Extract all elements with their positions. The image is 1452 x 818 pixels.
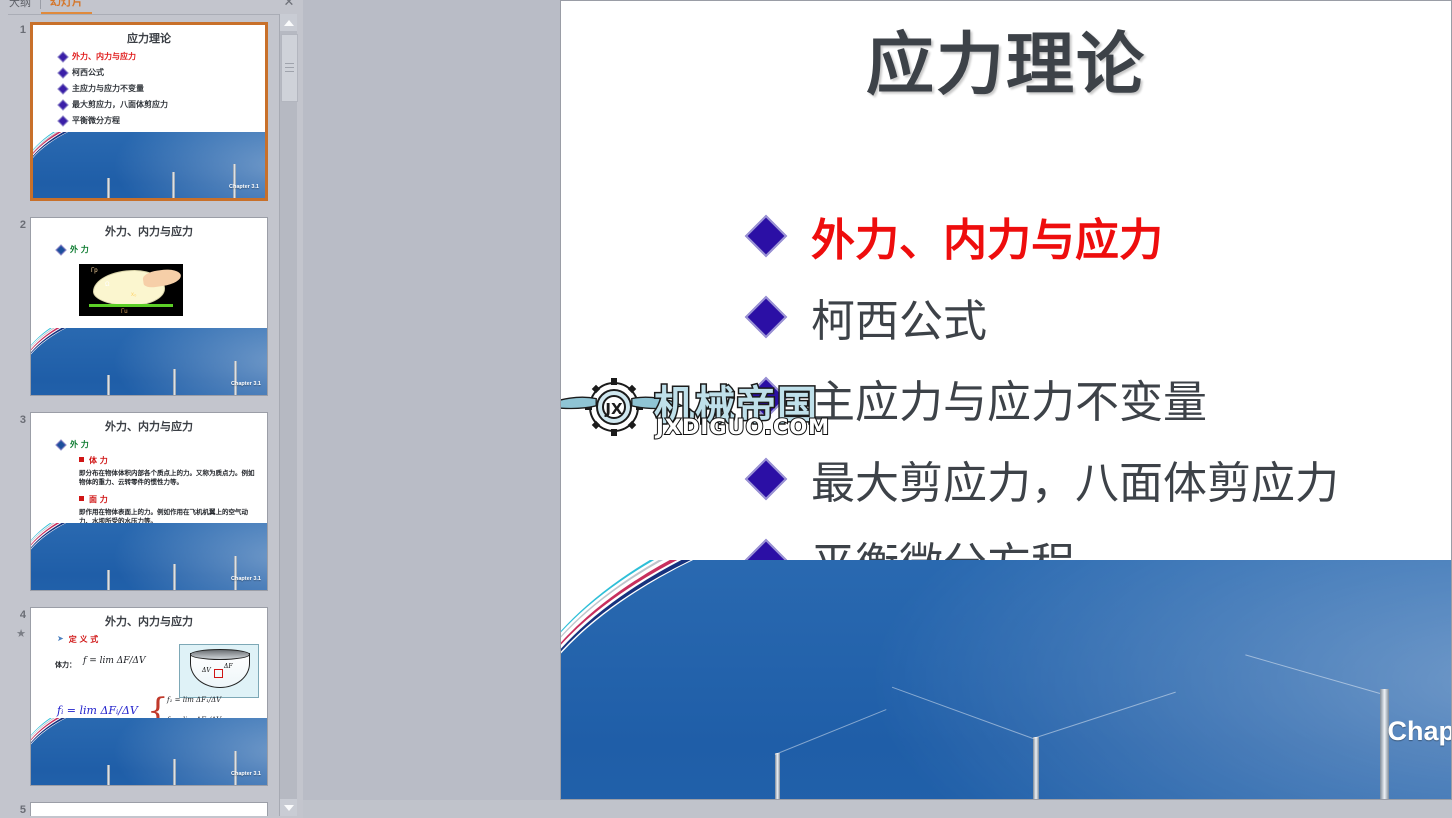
- thumb-bullet-label: 平衡微分方程: [72, 115, 120, 126]
- label-gamma-p: Γp: [91, 268, 98, 274]
- deco-pole: [234, 361, 237, 395]
- slide-decoration: Chapter 3.1: [31, 523, 267, 590]
- thumb-bullet-label: 主应力与应力不变量: [72, 83, 144, 94]
- deco-band-navy: [31, 328, 267, 395]
- formula-list-item: f₂ = lim ΔF₂/ΔV: [167, 716, 221, 724]
- formula-main: f = lim ΔF/ΔV: [83, 656, 146, 666]
- deco-pole: [1033, 737, 1039, 799]
- grip-line: [285, 63, 294, 64]
- deco-band-silver: [33, 132, 265, 198]
- slide-number: 2: [10, 219, 26, 231]
- label-delta-v: ΔV: [202, 667, 211, 674]
- deco-pole: [234, 556, 237, 590]
- stage-bottom-bar: [303, 800, 1452, 818]
- deco-band-pink: [31, 523, 267, 590]
- thumbnail-slide-4[interactable]: 外力、内力与应力 ➤ 定 义 式 ΔV ΔF: [30, 607, 268, 786]
- diamond-bullet-icon: [745, 215, 787, 257]
- watermark-url: JXDIGUO.COM: [656, 415, 830, 439]
- thumb-slide-body: [31, 803, 267, 816]
- deco-pole: [173, 564, 176, 590]
- thumb-title: 外力、内力与应力: [31, 223, 267, 239]
- deco-band-cyan: [31, 523, 267, 590]
- force-diagram-image: Γp Ω x₀ Γu: [79, 264, 183, 316]
- slide-bullet: 平衡微分方程: [751, 530, 1441, 590]
- label-x0: x₀: [131, 292, 137, 298]
- list-item[interactable]: 1 应力理论 外力、内力与应力 柯西公式: [8, 18, 276, 213]
- deco-pole: [172, 172, 175, 198]
- thumb-subtitle: 外 力: [70, 244, 89, 255]
- slide-bullet: 柯西公式: [751, 287, 1441, 347]
- slide-number: 3: [10, 414, 26, 426]
- section-paragraph: 即分布在物体体积内部各个质点上的力。又称为质点力。例如物体的重力、云转零件的惯性…: [79, 469, 259, 488]
- svg-text:JX: JX: [604, 400, 623, 418]
- grip-line: [285, 71, 294, 72]
- panel-tab-bar: 大纲 幻灯片: [0, 0, 303, 14]
- thumb-title: 应力理论: [33, 30, 265, 46]
- diamond-bullet-icon: [57, 99, 68, 110]
- formula-label: 体力：: [55, 660, 76, 670]
- thumb-bullet-label: 柯西公式: [72, 67, 104, 78]
- deco-pole: [107, 375, 110, 395]
- deco-pole: [173, 759, 176, 785]
- label-delta-f: ΔF: [224, 663, 233, 670]
- deco-band-cyan: [31, 328, 267, 395]
- thumb-subtitle: 外 力: [70, 439, 89, 450]
- bowl-rim-shape: [190, 649, 250, 660]
- diamond-bullet-icon: [57, 51, 68, 62]
- thumb-bullet-label: 最大剪应力，八面体剪应力: [72, 99, 168, 110]
- thumb-footer: Chapter 3.1: [231, 381, 261, 387]
- panel-divider: [8, 14, 294, 15]
- slide-bullet-label: 最大剪应力，八面体剪应力: [811, 447, 1339, 511]
- deco-pole: [173, 369, 176, 395]
- section-heading-label: 面 力: [89, 494, 108, 505]
- current-slide[interactable]: 应力理论 外力、内力与应力 柯西公式 主应力与应力不变量 最大剪应力，八面体剪应…: [560, 0, 1452, 800]
- thumb-footer: Chapter 3.1: [231, 771, 261, 777]
- deco-pole: [107, 178, 110, 198]
- thumb-title: 外力、内力与应力: [31, 418, 267, 434]
- diamond-bullet-icon: [57, 115, 68, 126]
- square-bullet-icon: [79, 457, 84, 462]
- volume-element-image: ΔV ΔF: [179, 644, 259, 698]
- diamond-bullet-icon: [55, 439, 66, 450]
- list-item[interactable]: 4 ★ 外力、内力与应力 ➤ 定 义 式: [8, 603, 276, 798]
- thumb-bullet: 最大剪应力，八面体剪应力: [59, 99, 257, 110]
- deco-spoke: [1033, 692, 1176, 739]
- formula-list-item: f₃ = lim ΔF₃/ΔV: [167, 736, 221, 744]
- slide-decoration: Chapter 3.1: [31, 328, 267, 395]
- diamond-bullet-icon: [55, 244, 66, 255]
- list-item[interactable]: 5: [8, 798, 276, 816]
- slide-number: 4: [10, 609, 26, 621]
- scroll-up-button[interactable]: [280, 14, 297, 31]
- thumb-bullet-label: 外力、内力与应力: [72, 51, 136, 62]
- thumbnail-slide-1[interactable]: 应力理论 外力、内力与应力 柯西公式: [30, 22, 268, 201]
- square-bullet-icon: [79, 496, 84, 501]
- deco-pole: [107, 765, 110, 785]
- deco-pole: [107, 570, 110, 590]
- scroll-up-arrow-icon: [284, 20, 294, 26]
- tab-slides[interactable]: 幻灯片: [41, 0, 92, 14]
- slide-footer: Chap: [1388, 716, 1452, 747]
- section-heading-label: 体 力: [89, 455, 108, 466]
- deco-pole: [233, 164, 236, 198]
- watermark: JX 机械帝国 JXDIGUO.COM: [576, 369, 876, 441]
- thumb-slide-body: 外力、内力与应力 外 力 Γp Ω: [31, 218, 267, 395]
- slide-bullet-label: 柯西公式: [811, 285, 987, 349]
- slide-bullet: 最大剪应力，八面体剪应力: [751, 449, 1441, 509]
- deco-pole: [775, 753, 780, 799]
- powerpoint-window: 大纲 幻灯片 ✕ 1 应力理论 外力、内力与应力: [0, 0, 1452, 818]
- thumbnail-list[interactable]: 1 应力理论 外力、内力与应力 柯西公式: [8, 18, 276, 816]
- deco-band-navy: [31, 523, 267, 590]
- section-paragraph: 即作用在物体表面上的力。例如作用在飞机机翼上的空气动力、水坝所受的水压力等。: [79, 508, 259, 527]
- panel-scrollbar[interactable]: [279, 14, 297, 816]
- animation-star-icon: ★: [10, 627, 26, 640]
- thumb-slide-body: 外力、内力与应力 ➤ 定 义 式 ΔV ΔF: [31, 608, 267, 785]
- thumb-section-heading: 体 力: [79, 455, 259, 466]
- deco-fill: [33, 132, 265, 198]
- deco-band-cyan: [33, 132, 265, 198]
- close-icon[interactable]: ✕: [281, 0, 297, 10]
- page-title: 应力理论: [561, 9, 1451, 108]
- deco-band-pink: [31, 328, 267, 395]
- formula-fi: fᵢ = lim ΔFᵢ/ΔV: [57, 704, 138, 717]
- thumb-footer: Chapter 3.1: [231, 576, 261, 582]
- diamond-bullet-icon: [745, 539, 787, 581]
- slide-number: 1: [10, 24, 26, 36]
- arrow-bullet-icon: ➤: [57, 634, 64, 643]
- hand-shape: [142, 267, 182, 288]
- element-square-shape: [214, 669, 223, 678]
- deco-pole: [1380, 689, 1389, 799]
- thumb-section-heading: 面 力: [79, 494, 259, 505]
- scroll-down-button[interactable]: [280, 799, 297, 816]
- left-wing-icon: [560, 395, 600, 413]
- deco-pole: [234, 751, 237, 785]
- scroll-down-arrow-icon: [284, 805, 294, 811]
- deco-spoke: [892, 687, 1033, 739]
- ground-line: [89, 304, 173, 307]
- thumb-bullet: 柯西公式: [59, 67, 257, 78]
- thumb-bullet-list: 外力、内力与应力 柯西公式 主应力与应力不变量: [59, 51, 257, 131]
- thumb-slide-body: 外力、内力与应力 外 力 体 力 即分布在物: [31, 413, 267, 590]
- label-gamma-u: Γu: [121, 309, 128, 315]
- thumbnail-slide-2[interactable]: 外力、内力与应力 外 力 Γp Ω: [30, 217, 268, 396]
- thumb-slide-body: 应力理论 外力、内力与应力 柯西公式: [33, 25, 265, 198]
- deco-band-silver: [31, 523, 267, 590]
- thumb-bullet: 主应力与应力不变量: [59, 83, 257, 94]
- diamond-bullet-icon: [745, 296, 787, 338]
- thumb-bullet-list: 外 力 体 力 即分布在物体体积内部各个质点上的力。又称为质点力。例如物体的重力…: [57, 439, 259, 533]
- thumbnail-slide-5[interactable]: [30, 802, 268, 816]
- deco-band-pink: [33, 132, 265, 198]
- slide-thumbnail-panel: 大纲 幻灯片 ✕ 1 应力理论 外力、内力与应力: [0, 0, 303, 818]
- tab-outline[interactable]: 大纲: [0, 0, 40, 13]
- thumb-bullet: 外力、内力与应力: [59, 51, 257, 62]
- slide-stage: 应力理论 外力、内力与应力 柯西公式 主应力与应力不变量 最大剪应力，八面体剪应…: [303, 0, 1452, 818]
- label-omega: Ω: [105, 282, 110, 288]
- deco-spoke: [774, 709, 886, 755]
- thumb-title: 外力、内力与应力: [31, 613, 267, 629]
- deco-spoke: [1245, 654, 1380, 694]
- thumb-bullet: 外 力: [57, 244, 259, 255]
- slide-bullet: 外力、内力与应力: [751, 206, 1441, 266]
- slide-decoration: Chapter 3.1: [33, 132, 265, 198]
- list-item[interactable]: 2 外力、内力与应力 外 力: [8, 213, 276, 408]
- deco-band-silver: [31, 328, 267, 395]
- diamond-bullet-icon: [745, 458, 787, 500]
- thumb-bullet-list: 外 力: [57, 244, 259, 260]
- thumb-bullet: 平衡微分方程: [59, 115, 257, 126]
- list-item[interactable]: 3 外力、内力与应力 外 力 体 力: [8, 408, 276, 603]
- formula-list-item: f₁ = lim ΔF₁/ΔV: [167, 696, 221, 704]
- thumb-subtitle: 定 义 式: [69, 634, 99, 645]
- thumb-bullet: 外 力: [57, 439, 259, 450]
- slide-bullet-label: 外力、内力与应力: [811, 204, 1163, 268]
- thumbnail-slide-3[interactable]: 外力、内力与应力 外 力 体 力 即分布在物: [30, 412, 268, 591]
- brace-icon: {: [147, 698, 169, 725]
- thumb-footer: Chapter 3.1: [229, 184, 259, 190]
- deco-band-navy: [33, 132, 265, 198]
- deco-fill: [31, 328, 267, 395]
- diamond-bullet-icon: [57, 67, 68, 78]
- deco-fill: [31, 523, 267, 590]
- grip-line: [285, 67, 294, 68]
- slide-bullet-label: 平衡微分方程: [811, 528, 1075, 592]
- scrollbar-thumb[interactable]: [281, 34, 298, 102]
- slide-number: 5: [10, 804, 26, 816]
- diamond-bullet-icon: [57, 83, 68, 94]
